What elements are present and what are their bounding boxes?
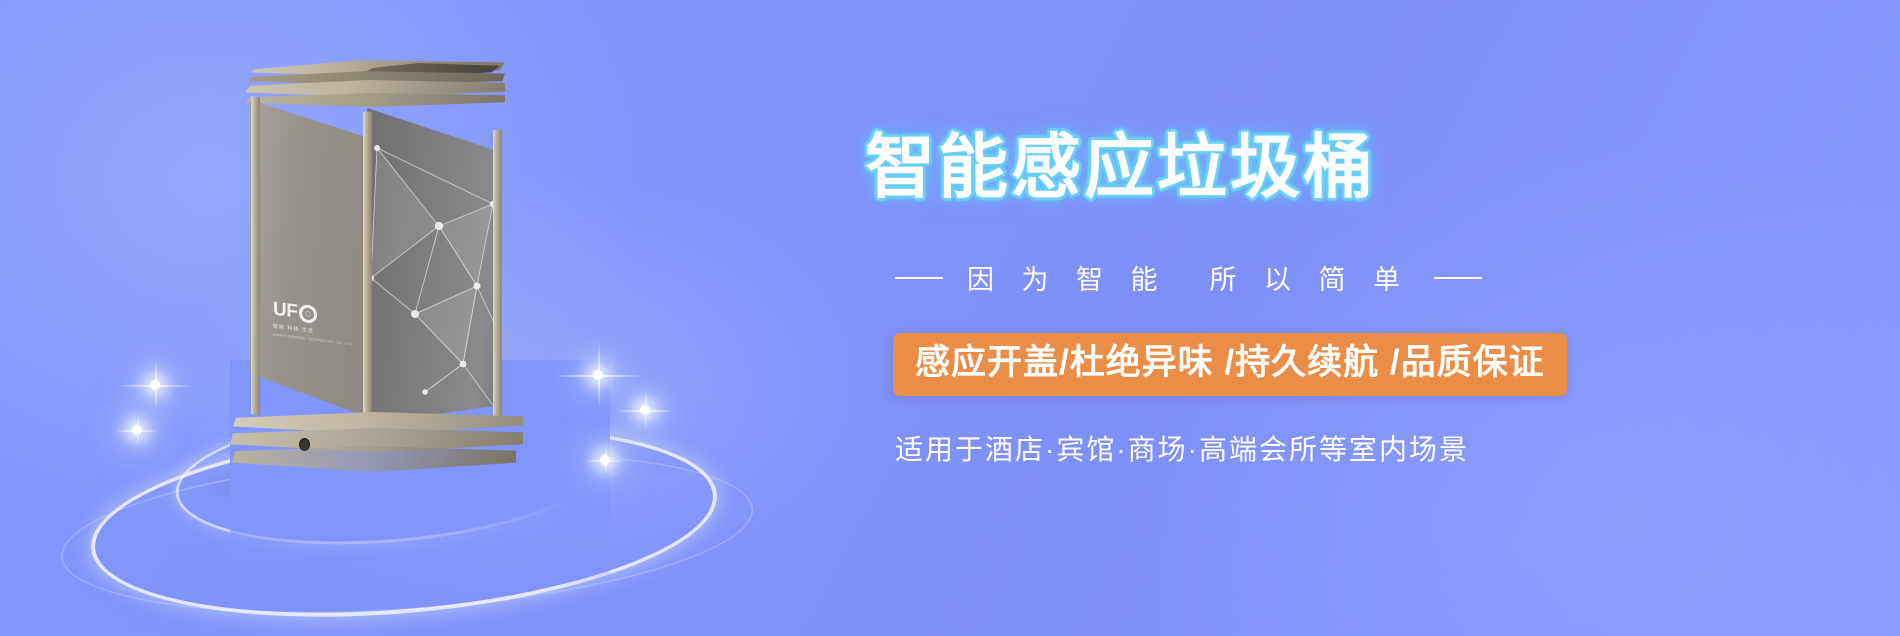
bin-edge-post-right — [493, 129, 502, 422]
feature-bar-text: 感应开盖/杜绝异味 /持久续航 /品质保证 — [915, 343, 1545, 382]
trash-bin-body: UF 智能 科技 生活 SMART SENSING TECHNOLOGY CO.… — [245, 60, 505, 450]
feature-bar: 感应开盖/杜绝异味 /持久续航 /品质保证 — [893, 333, 1567, 396]
product-image: UF 智能 科技 生活 SMART SENSING TECHNOLOGY CO.… — [0, 0, 820, 636]
sensor-port-icon — [299, 438, 310, 451]
subtitle-row: 因 为 智 能 所 以 简 单 — [895, 258, 1482, 297]
bin-base-bottom — [229, 446, 516, 472]
subtitle-text-a: 因 为 智 能 — [967, 258, 1168, 297]
brand-logo: UF 智能 科技 生活 SMART SENSING TECHNOLOGY CO.… — [273, 300, 345, 365]
subtitle-rule-right — [1434, 277, 1482, 279]
bin-panel-left — [245, 100, 370, 418]
brand-logo-ring-icon — [299, 303, 317, 323]
bin-edge-post-left — [251, 96, 260, 415]
tagline: 适用于酒店·宾馆·商场·高端会所等室内场景 — [895, 428, 1469, 468]
bin-base — [227, 412, 523, 486]
subtitle-rule-left — [895, 277, 943, 279]
bin-rim-lower — [245, 93, 505, 107]
subtitle-text-b: 所 以 简 单 — [1210, 258, 1411, 297]
bin-edge-post-center — [363, 111, 372, 426]
copy-block: 智能感应垃圾桶 因 为 智 能 所 以 简 单 感应开盖/杜绝异味 /持久续航 … — [855, 0, 1900, 636]
headline: 智能感应垃圾桶 — [865, 132, 1900, 202]
promo-banner: UF 智能 科技 生活 SMART SENSING TECHNOLOGY CO.… — [0, 0, 1900, 636]
polygon-network-graphic — [367, 108, 505, 424]
brand-logo-text: UF — [273, 300, 297, 322]
